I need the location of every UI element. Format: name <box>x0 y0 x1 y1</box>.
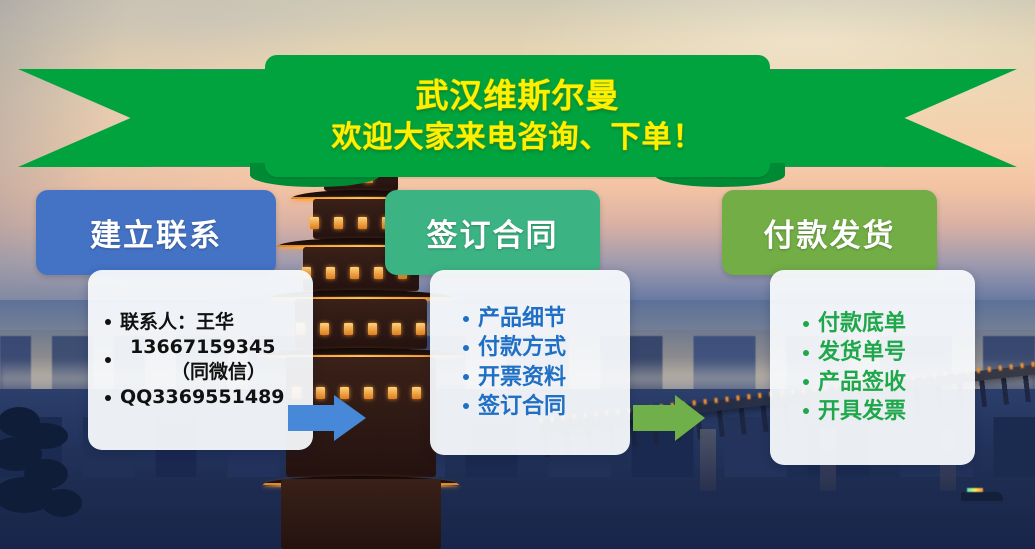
bullet-dot-icon <box>463 345 469 351</box>
arrow-shaft <box>633 405 677 431</box>
step-header-label: 签订合同 <box>427 210 559 255</box>
list-item-text: 13667159345 <box>130 336 275 358</box>
ribbon-tail-right <box>867 69 1017 167</box>
list-item-text: 开具发票 <box>818 399 906 424</box>
step-header-label: 付款发货 <box>764 210 896 255</box>
list-item-text: 签订合同 <box>478 394 566 419</box>
step-header-label: 建立联系 <box>90 210 222 255</box>
contact-detail-list: 联系人：王华 13667159345 （同微信） QQ3369551489 <box>120 310 303 410</box>
arrow-head <box>675 395 705 441</box>
bullet-dot-icon <box>463 403 469 409</box>
payment-detail-list: 付款底单 发货单号 产品签收 开具发票 <box>818 309 965 425</box>
list-item-text: 产品签收 <box>818 370 906 395</box>
step-body-contract: 产品细节 付款方式 开票资料 签订合同 <box>430 270 630 455</box>
step-header-contract[interactable]: 签订合同 <box>385 190 600 275</box>
list-item: 付款底单 <box>818 309 965 338</box>
step-card-contract[interactable]: 签订合同 产品细节 付款方式 开票资料 <box>385 190 600 455</box>
list-item: 付款方式 <box>478 333 620 362</box>
banner-plaque: 武汉维斯尔曼 欢迎大家来电咨询、下单！ <box>265 55 770 177</box>
banner-title-line1: 武汉维斯尔曼 <box>416 76 620 117</box>
arrow-right-icon-contact-to-contract <box>288 395 366 441</box>
bullet-dot-icon <box>105 357 111 363</box>
step-body-contact: 联系人：王华 13667159345 （同微信） QQ3369551489 <box>88 270 313 450</box>
list-item-text: QQ3369551489 <box>120 386 285 408</box>
list-item: 开票资料 <box>478 363 620 392</box>
bullet-dot-icon <box>463 374 469 380</box>
list-item-text: 付款方式 <box>478 335 566 360</box>
list-item: 联系人：王华 <box>120 310 303 335</box>
list-item-text: 发货单号 <box>818 340 906 365</box>
step-body-payment: 付款底单 发货单号 产品签收 开具发票 <box>770 270 975 465</box>
list-item: 产品细节 <box>478 304 620 333</box>
list-item-text: 产品细节 <box>478 306 566 331</box>
bullet-dot-icon <box>803 350 809 356</box>
bullet-dot-icon <box>463 316 469 322</box>
list-item-text: 联系人：王华 <box>120 311 234 333</box>
banner-ribbon: 武汉维斯尔曼 欢迎大家来电咨询、下单！ <box>0 55 1035 185</box>
slide-canvas: 武汉维斯尔曼 欢迎大家来电咨询、下单！ 建立联系 联系人：王华 13667159… <box>0 0 1035 549</box>
process-flow: 建立联系 联系人：王华 13667159345 （同微信） QQ336 <box>0 190 1035 490</box>
step-card-payment[interactable]: 付款发货 付款底单 发货单号 产品签收 <box>722 190 937 465</box>
step-header-contact[interactable]: 建立联系 <box>36 190 276 275</box>
arrow-right-icon-contract-to-payment <box>633 395 705 441</box>
bullet-dot-icon <box>803 408 809 414</box>
banner-title-line2: 欢迎大家来电咨询、下单！ <box>332 119 704 156</box>
list-item: 开具发票 <box>818 397 965 426</box>
list-item-text: 付款底单 <box>818 311 906 336</box>
bullet-dot-icon <box>105 395 111 401</box>
bullet-dot-icon <box>803 321 809 327</box>
arrow-shaft <box>288 405 336 431</box>
list-item: 产品签收 <box>818 368 965 397</box>
bullet-dot-icon <box>803 379 809 385</box>
step-card-contact[interactable]: 建立联系 联系人：王华 13667159345 （同微信） QQ336 <box>36 190 276 450</box>
river-boat <box>961 492 1003 501</box>
step-header-payment[interactable]: 付款发货 <box>722 190 937 275</box>
list-item: 签订合同 <box>478 392 620 421</box>
bullet-dot-icon <box>105 319 111 325</box>
list-item-text: 开票资料 <box>478 365 566 390</box>
ribbon-tail-left <box>18 69 168 167</box>
list-item: 13667159345 （同微信） <box>120 335 303 385</box>
arrow-head <box>334 395 366 441</box>
contract-detail-list: 产品细节 付款方式 开票资料 签订合同 <box>478 304 620 420</box>
list-item: QQ3369551489 <box>120 385 303 410</box>
list-item: 发货单号 <box>818 338 965 367</box>
list-item-subtext: （同微信） <box>130 360 303 385</box>
